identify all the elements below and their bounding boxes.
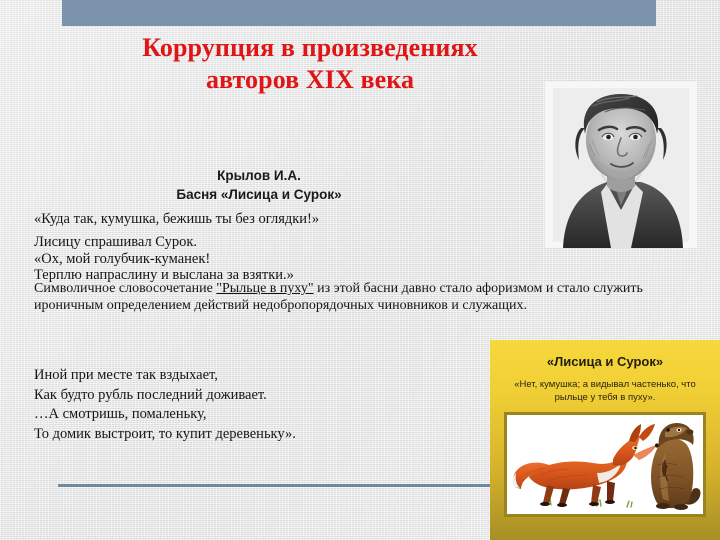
footer-divider-line bbox=[58, 484, 492, 487]
krylov-portrait-image bbox=[545, 82, 697, 248]
page-title-line-1: Коррупция в произведениях bbox=[60, 32, 560, 64]
fox-and-marmot-image-frame bbox=[504, 412, 706, 517]
fox-and-marmot-icon bbox=[507, 415, 703, 514]
author-heading: Крылов И.А. Басня «Лисица и Сурок» bbox=[34, 166, 484, 204]
fable-name: Басня «Лисица и Сурок» bbox=[34, 185, 484, 204]
page-title: Коррупция в произведениях авторов XIX ве… bbox=[60, 32, 560, 96]
closing-verse-block: Иной при месте так вздыхает, Как будто р… bbox=[34, 366, 484, 444]
portrait-engraving-icon bbox=[545, 82, 697, 248]
fable-quote-line-1: «Куда так, кумушка, бежишь ты без оглядк… bbox=[34, 208, 494, 230]
verse-line-2: Как будто рубль последний доживает. bbox=[34, 386, 484, 406]
fable-illustration-card: «Лисица и Сурок» «Нет, кумушка; а видыва… bbox=[490, 340, 720, 540]
fable-quote-block: «Куда так, кумушка, бежишь ты без оглядк… bbox=[34, 208, 494, 284]
presentation-slide: Коррупция в произведениях авторов XIX ве… bbox=[0, 0, 720, 540]
fable-quote-line-3: «Ох, мой голубчик-куманек! bbox=[34, 251, 494, 268]
author-name: Крылов И.А. bbox=[34, 166, 484, 185]
fable-quote-line-2: Лисицу спрашивал Сурок. bbox=[34, 234, 494, 251]
verse-line-1: Иной при месте так вздыхает, bbox=[34, 366, 484, 386]
commentary-paragraph: Символичное словосочетание "Рыльце в пух… bbox=[34, 280, 694, 314]
header-accent-bar bbox=[62, 0, 656, 26]
page-title-line-2: авторов XIX века bbox=[60, 64, 560, 96]
verse-line-4: То домик выстроит, то купит деревеньку». bbox=[34, 425, 484, 445]
verse-line-3: …А смотришь, помаленьку, bbox=[34, 405, 484, 425]
commentary-highlighted-phrase: "Рыльце в пуху" bbox=[216, 281, 313, 296]
fable-card-quote: «Нет, кумушка; а видывал частенько, что … bbox=[502, 378, 708, 404]
commentary-text-before: Символичное словосочетание bbox=[34, 281, 216, 296]
fable-card-title: «Лисица и Сурок» bbox=[500, 354, 710, 369]
